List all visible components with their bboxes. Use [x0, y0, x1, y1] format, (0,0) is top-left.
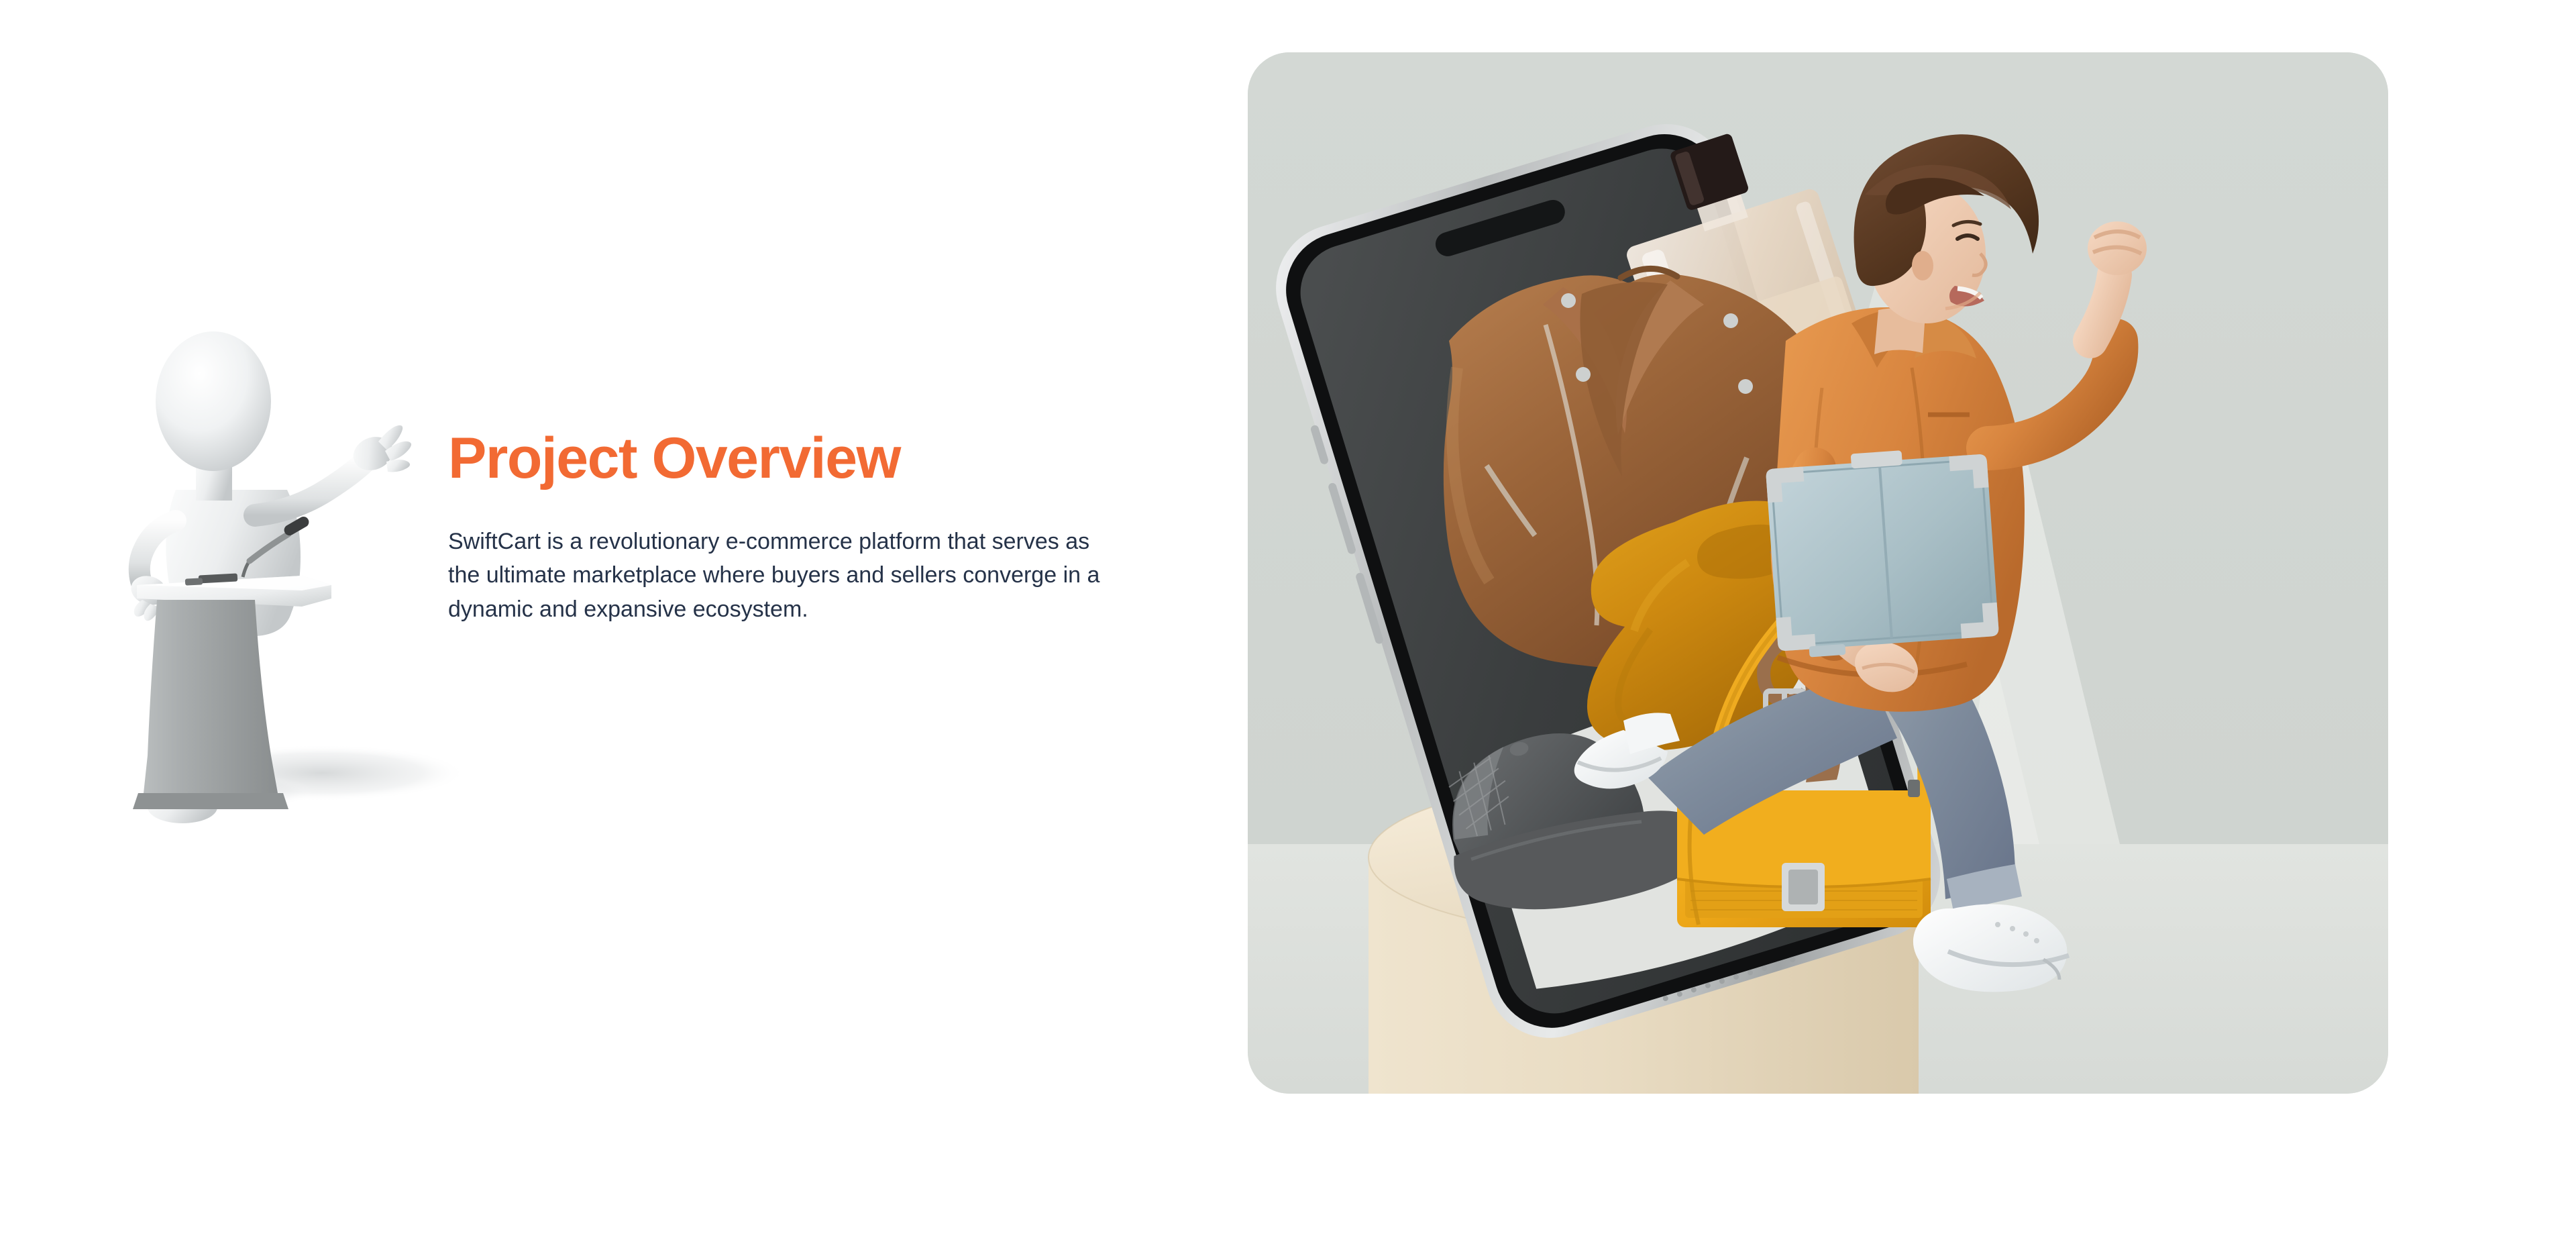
mascot-right-arm [255, 459, 368, 515]
page-title: Project Overview [448, 429, 1159, 487]
left-content-column: Project Overview SwiftCart is a revoluti… [0, 0, 1207, 1248]
mascot-head [156, 331, 271, 471]
jacket-snap-button [1723, 313, 1738, 328]
podium-base [133, 793, 288, 809]
woman-ear [1912, 251, 1933, 280]
light-blue-suitcase [1765, 444, 2000, 659]
jacket-snap-button [1576, 367, 1591, 382]
jacket-snap-button [1561, 293, 1576, 308]
presenter-mascot-illustration [101, 322, 463, 832]
jacket-snap-button [1738, 379, 1753, 394]
woman-fist [2088, 221, 2147, 275]
hero-image-card [1248, 52, 2388, 1094]
copy-block: Project Overview SwiftCart is a revoluti… [448, 429, 1159, 626]
slide-root: Project Overview SwiftCart is a revoluti… [0, 0, 2576, 1248]
page-description: SwiftCart is a revolutionary e-commerce … [448, 525, 1126, 626]
